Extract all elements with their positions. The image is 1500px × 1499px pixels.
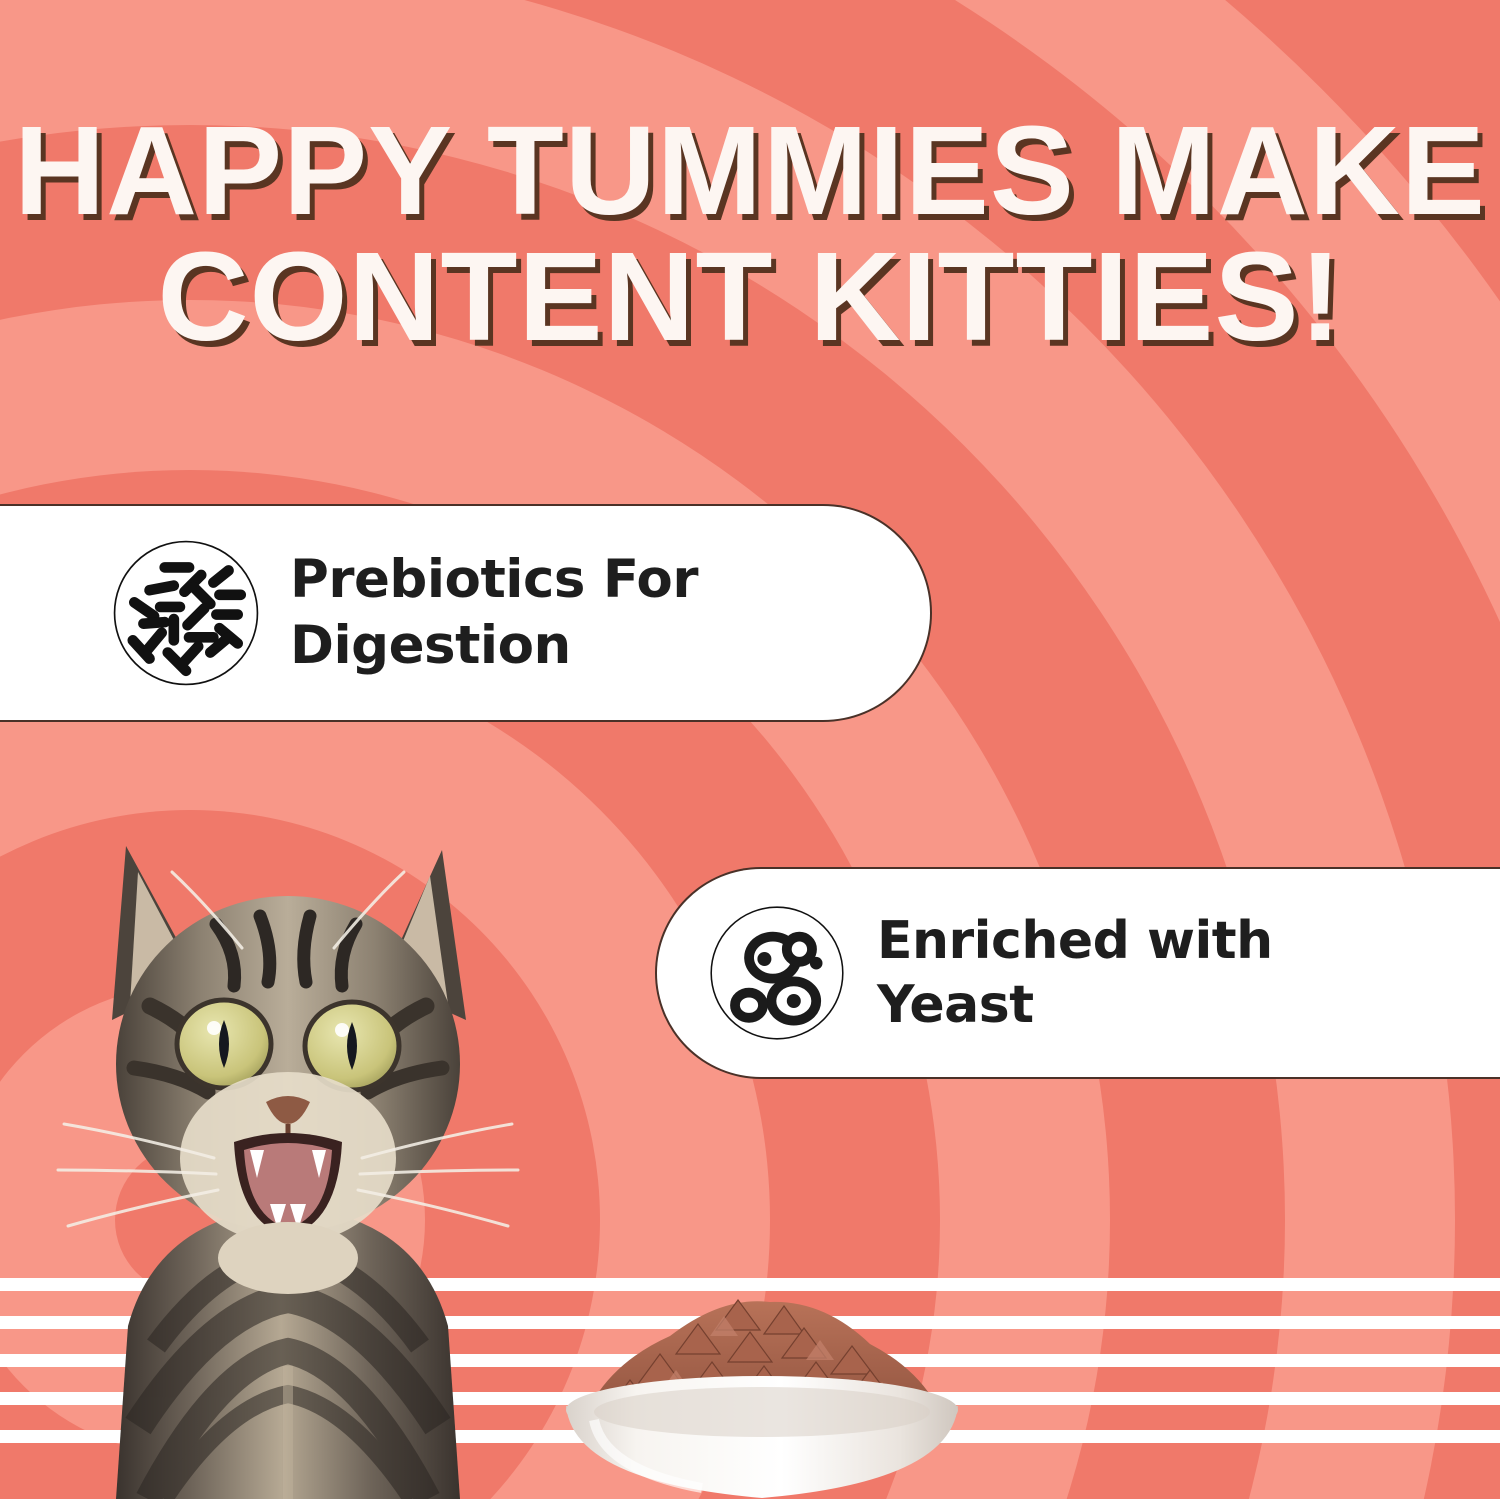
yeast-cells-icon (707, 903, 847, 1043)
feature-pill-yeast[interactable]: Enriched with Yeast (655, 867, 1500, 1079)
prebiotics-bacteria-icon (110, 537, 262, 689)
headline-line-1: HAPPY TUMMIES MAKE (0, 108, 1500, 234)
feature-label-prebiotics: Prebiotics For Digestion (290, 547, 698, 679)
feature-label-line-2: Yeast (877, 973, 1273, 1037)
feature-label-line-2: Digestion (290, 613, 698, 679)
cat-photo (38, 806, 538, 1499)
page-title: HAPPY TUMMIES MAKE CONTENT KITTIES! (0, 108, 1500, 360)
feature-label-line-1: Enriched with (877, 909, 1273, 973)
feature-pill-prebiotics[interactable]: Prebiotics For Digestion (0, 504, 932, 722)
feature-label-yeast: Enriched with Yeast (877, 909, 1273, 1037)
product-feature-banner: HAPPY TUMMIES MAKE CONTENT KITTIES! (0, 0, 1500, 1499)
feature-label-line-1: Prebiotics For (290, 547, 698, 613)
headline-line-2: CONTENT KITTIES! (0, 234, 1500, 360)
kibble-bowl-photo (552, 1270, 972, 1499)
